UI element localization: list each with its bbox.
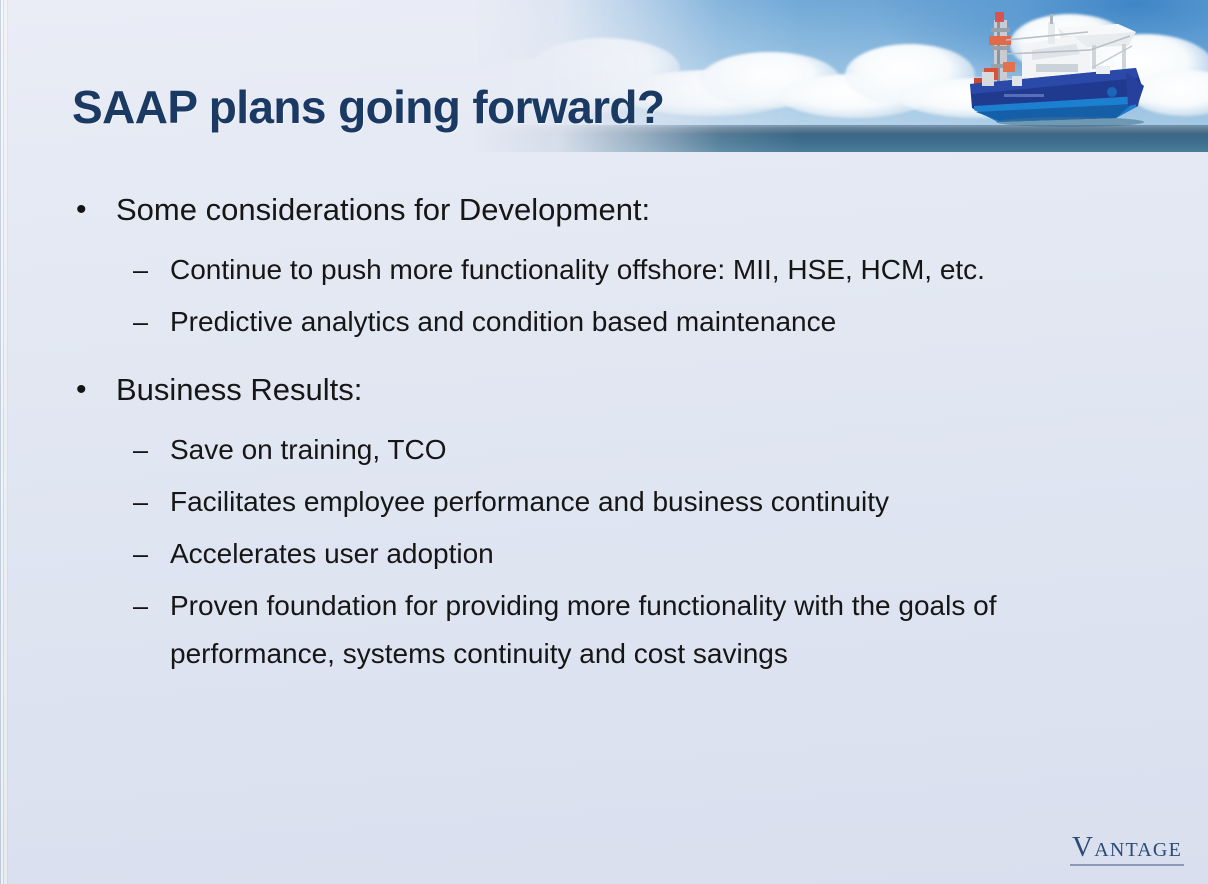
bullet-marker-dash: – <box>133 246 170 294</box>
drillship-icon <box>940 6 1150 140</box>
bullet-level2: – Accelerates user adoption <box>0 530 1208 578</box>
bullet-text: Some considerations for Development: <box>116 188 1208 232</box>
vantage-logo: Vantage <box>1070 832 1184 866</box>
bullet-level1: • Business Results: <box>0 368 1208 412</box>
bullet-level2: – Save on training, TCO <box>0 426 1208 474</box>
bullet-marker-dash: – <box>133 582 170 630</box>
bullet-text: Save on training, TCO <box>170 426 1130 474</box>
bullet-text: Accelerates user adoption <box>170 530 1130 578</box>
bullet-text: Business Results: <box>116 368 1208 412</box>
bullet-level2: – Predictive analytics and condition bas… <box>0 298 1208 346</box>
bullet-level2: – Facilitates employee performance and b… <box>0 478 1208 526</box>
bullet-text: Proven foundation for providing more fun… <box>170 582 1130 678</box>
vantage-logo-text: Vantage <box>1070 832 1184 866</box>
slide-body: • Some considerations for Development: –… <box>0 188 1208 682</box>
bullet-level2: – Continue to push more functionality of… <box>0 246 1208 294</box>
presentation-slide: SAAP plans going forward? • Some conside… <box>0 0 1208 884</box>
bullet-marker-dash: – <box>133 298 170 346</box>
bullet-marker-dash: – <box>133 478 170 526</box>
bullet-marker-dot: • <box>72 188 116 232</box>
bullet-text: Facilitates employee performance and bus… <box>170 478 1130 526</box>
bullet-marker-dash: – <box>133 426 170 474</box>
bullet-marker-dash: – <box>133 530 170 578</box>
slide-title: SAAP plans going forward? <box>72 80 664 134</box>
bullet-text: Predictive analytics and condition based… <box>170 298 1130 346</box>
bullet-level2: – Proven foundation for providing more f… <box>0 582 1208 678</box>
bullet-level1: • Some considerations for Development: <box>0 188 1208 232</box>
bullet-text: Continue to push more functionality offs… <box>170 246 1130 294</box>
bullet-marker-dot: • <box>72 368 116 412</box>
